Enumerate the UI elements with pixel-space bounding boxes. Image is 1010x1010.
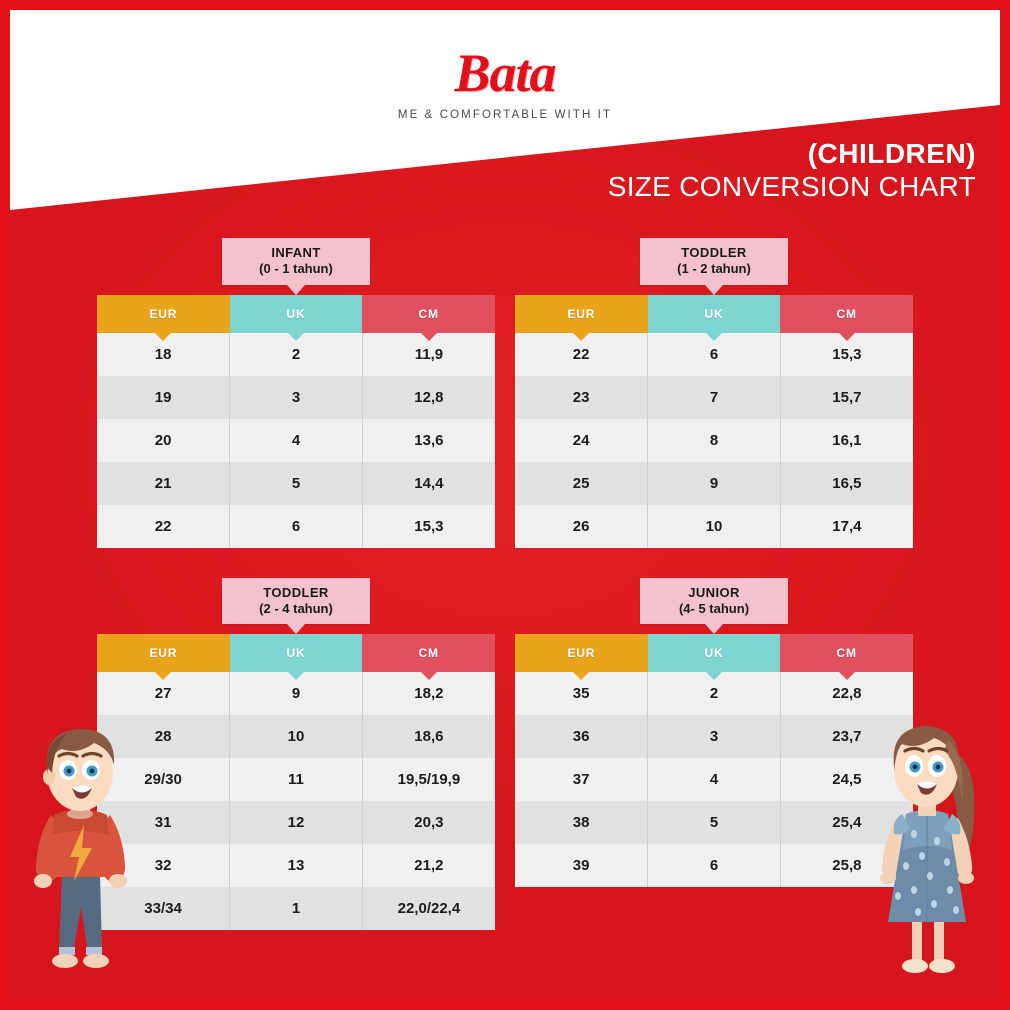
table-label-name: TODDLER [644,245,784,261]
cell-cm: 22,0/22,4 [362,887,495,930]
size-tables-container: INFANT (0 - 1 tahun) EUR UK CM 18 [10,238,1000,930]
page-title-line2: SIZE CONVERSION CHART [608,170,976,204]
table-row: 37 4 24,5 [515,758,913,801]
notch-icon [421,333,437,341]
table-row: 19 3 12,8 [97,376,495,419]
cell-eur: 33/34 [97,887,230,930]
cell-cm: 12,8 [362,376,495,419]
table-row: 21 5 14,4 [97,462,495,505]
column-header-cm: CM [362,634,495,672]
table-label-age: (1 - 2 tahun) [644,261,784,277]
table-row: 29/30 11 19,5/19,9 [97,758,495,801]
cell-eur: 26 [515,505,648,548]
cell-uk: 5 [648,801,781,844]
cell-eur: 39 [515,844,648,887]
table-label-infant: INFANT (0 - 1 tahun) [222,238,370,285]
table-row: 39 6 25,8 [515,844,913,887]
table-row: 33/34 1 22,0/22,4 [97,887,495,930]
table-label-age: (2 - 4 tahun) [226,601,366,617]
cell-uk: 11 [230,758,363,801]
cell-cm: 20,3 [362,801,495,844]
cell-cm: 16,5 [780,462,913,505]
cell-cm: 25,4 [780,801,913,844]
table-header-row: EUR UK CM [97,634,495,672]
cell-uk: 1 [230,887,363,930]
column-header-cm: CM [780,295,913,333]
cell-eur: 19 [97,376,230,419]
cell-uk: 7 [648,376,781,419]
column-header-uk: UK [230,634,363,672]
cell-cm: 18,6 [362,715,495,758]
cell-uk: 10 [648,505,781,548]
notch-icon [839,672,855,680]
conversion-table: EUR UK CM 18 2 11,9 19 3 [97,295,495,548]
column-header-eur: EUR [515,295,648,333]
table-row: 26 10 17,4 [515,505,913,548]
table-row: 20 4 13,6 [97,419,495,462]
column-header-uk: UK [648,634,781,672]
column-header-cm: CM [362,295,495,333]
cell-cm: 24,5 [780,758,913,801]
cell-eur: 20 [97,419,230,462]
cell-cm: 23,7 [780,715,913,758]
table-label-name: INFANT [226,245,366,261]
cell-cm: 14,4 [362,462,495,505]
table-label-name: JUNIOR [644,585,784,601]
table-label-toddler-2-4: TODDLER (2 - 4 tahun) [222,578,370,625]
cell-uk: 6 [648,844,781,887]
notch-icon [155,672,171,680]
cell-eur: 28 [97,715,230,758]
table-row: 22 6 15,3 [97,505,495,548]
notch-icon [288,672,304,680]
cell-eur: 21 [97,462,230,505]
conversion-table: EUR UK CM 22 6 15,3 23 7 [515,295,913,548]
cell-cm: 13,6 [362,419,495,462]
table-header-row: EUR UK CM [515,295,913,333]
table-row: 38 5 25,4 [515,801,913,844]
conversion-table: EUR UK CM 35 2 22,8 36 3 [515,634,913,887]
table-row: 25 9 16,5 [515,462,913,505]
notch-icon [155,333,171,341]
notch-icon [706,672,722,680]
column-header-cm: CM [780,634,913,672]
table-label-junior: JUNIOR (4- 5 tahun) [640,578,788,625]
column-header-uk: UK [648,295,781,333]
cell-eur: 25 [515,462,648,505]
cell-uk: 4 [648,758,781,801]
cell-eur: 29/30 [97,758,230,801]
cell-uk: 3 [230,376,363,419]
table-row: 31 12 20,3 [97,801,495,844]
cell-eur: 24 [515,419,648,462]
cell-eur: 23 [515,376,648,419]
cell-uk: 10 [230,715,363,758]
tables-row-top: INFANT (0 - 1 tahun) EUR UK CM 18 [10,238,1000,548]
table-header-row: EUR UK CM [97,295,495,333]
table-row: 24 8 16,1 [515,419,913,462]
conversion-table: EUR UK CM 27 9 18,2 28 10 [97,634,495,930]
cell-cm: 19,5/19,9 [362,758,495,801]
notch-icon [573,333,589,341]
size-chart-page: Bata ME & COMFORTABLE WITH IT (CHILDREN)… [0,0,1010,1010]
cell-uk: 9 [648,462,781,505]
cell-eur: 31 [97,801,230,844]
table-label-toddler-1-2: TODDLER (1 - 2 tahun) [640,238,788,285]
page-title-line1: (CHILDREN) [608,138,976,170]
table-header-row: EUR UK CM [515,634,913,672]
table-row: 23 7 15,7 [515,376,913,419]
cell-uk: 6 [230,505,363,548]
cell-eur: 37 [515,758,648,801]
cell-cm: 15,3 [362,505,495,548]
table-label-name: TODDLER [226,585,366,601]
notch-icon [421,672,437,680]
size-table-toddler-1-2: TODDLER (1 - 2 tahun) EUR UK CM 22 [515,238,913,548]
cell-cm: 17,4 [780,505,913,548]
notch-icon [706,333,722,341]
size-table-infant: INFANT (0 - 1 tahun) EUR UK CM 18 [97,238,495,548]
tables-row-bottom: TODDLER (2 - 4 tahun) EUR UK CM 27 [10,578,1000,931]
cell-cm: 15,7 [780,376,913,419]
column-header-eur: EUR [515,634,648,672]
cell-uk: 4 [230,419,363,462]
cell-eur: 22 [97,505,230,548]
notch-icon [573,672,589,680]
table-label-age: (4- 5 tahun) [644,601,784,617]
size-table-toddler-2-4: TODDLER (2 - 4 tahun) EUR UK CM 27 [97,578,495,931]
notch-icon [288,333,304,341]
cell-eur: 36 [515,715,648,758]
cell-uk: 5 [230,462,363,505]
table-row: 32 13 21,2 [97,844,495,887]
cell-eur: 32 [97,844,230,887]
cell-cm: 21,2 [362,844,495,887]
table-row: 28 10 18,6 [97,715,495,758]
cell-uk: 3 [648,715,781,758]
cell-uk: 13 [230,844,363,887]
column-header-eur: EUR [97,634,230,672]
table-row: 36 3 23,7 [515,715,913,758]
column-header-uk: UK [230,295,363,333]
cell-uk: 12 [230,801,363,844]
size-table-junior: JUNIOR (4- 5 tahun) EUR UK CM 35 [515,578,913,931]
cell-eur: 38 [515,801,648,844]
cell-uk: 8 [648,419,781,462]
cell-cm: 16,1 [780,419,913,462]
table-label-age: (0 - 1 tahun) [226,261,366,277]
page-title: (CHILDREN) SIZE CONVERSION CHART [608,138,976,204]
cell-cm: 25,8 [780,844,913,887]
notch-icon [839,333,855,341]
column-header-eur: EUR [97,295,230,333]
